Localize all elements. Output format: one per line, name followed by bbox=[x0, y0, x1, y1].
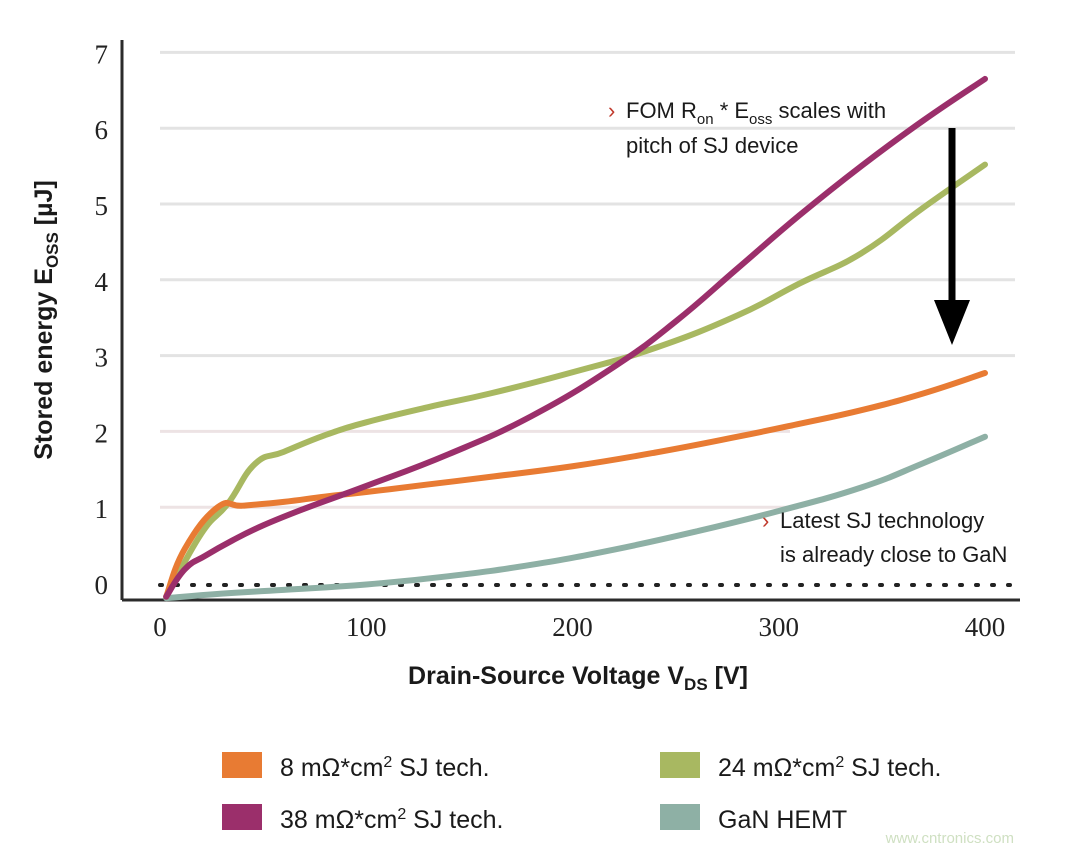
y-tick-label-3: 3 bbox=[95, 343, 109, 373]
legend-swatch bbox=[222, 804, 262, 830]
legend-swatch bbox=[222, 752, 262, 778]
x-axis-title-main: Drain-Source Voltage V bbox=[408, 662, 684, 690]
x-tick-label-300: 300 bbox=[759, 612, 800, 642]
y-axis-title-unit: [µJ] bbox=[30, 180, 58, 232]
annotation1-chevron-icon: › bbox=[608, 98, 615, 123]
annotation2-chevron-icon: › bbox=[762, 508, 769, 533]
watermark: www.cntronics.com bbox=[885, 830, 1014, 847]
y-tick-label-0: 0 bbox=[95, 570, 109, 600]
stored-energy-line-chart: 01234567 0100200300400 Stored energy EOS… bbox=[0, 0, 1080, 860]
y-tick-label-1: 1 bbox=[95, 494, 109, 524]
y-axis-title-main: Stored energy E bbox=[30, 268, 58, 460]
y-tick-label-5: 5 bbox=[95, 191, 109, 221]
y-tick-label-2: 2 bbox=[95, 418, 109, 448]
legend-label: GaN HEMT bbox=[718, 806, 847, 834]
chart-figure: 01234567 0100200300400 Stored energy EOS… bbox=[0, 0, 1080, 860]
annotation1-part1: FOM R bbox=[626, 98, 697, 123]
legend-gan-hemt[interactable]: GaN HEMT bbox=[660, 804, 847, 834]
x-axis-title-sub: DS bbox=[684, 675, 708, 694]
x-axis-title-unit: [V] bbox=[708, 662, 748, 690]
svg-text:Stored energy EOSS [µJ]: Stored energy EOSS [µJ] bbox=[30, 180, 62, 460]
y-tick-label-7: 7 bbox=[95, 39, 109, 69]
annotation1-part3: scales with bbox=[772, 98, 886, 123]
x-tick-label-100: 100 bbox=[346, 612, 387, 642]
y-tick-label-4: 4 bbox=[95, 267, 109, 297]
annotation1-sub1: on bbox=[697, 111, 714, 128]
annotation2-line2: is already close to GaN bbox=[780, 542, 1007, 567]
legend-label: 38 mΩ*cm2 SJ tech. bbox=[280, 806, 504, 834]
x-tick-label-0: 0 bbox=[153, 612, 167, 642]
annotation2-line1: Latest SJ technology bbox=[780, 508, 984, 533]
legend-swatch bbox=[660, 804, 700, 830]
x-tick-label-400: 400 bbox=[965, 612, 1006, 642]
y-axis-title: Stored energy EOSS [µJ] bbox=[30, 180, 62, 460]
y-tick-label-6: 6 bbox=[95, 115, 109, 145]
legend-swatch bbox=[660, 752, 700, 778]
legend-label: 24 mΩ*cm2 SJ tech. bbox=[718, 754, 942, 782]
annotation1-line2: pitch of SJ device bbox=[626, 133, 798, 158]
y-axis-title-sub: OSS bbox=[43, 232, 62, 268]
annotation1-sub2: oss bbox=[749, 111, 772, 128]
x-tick-label-200: 200 bbox=[552, 612, 593, 642]
annotation1-part2: * E bbox=[714, 98, 749, 123]
